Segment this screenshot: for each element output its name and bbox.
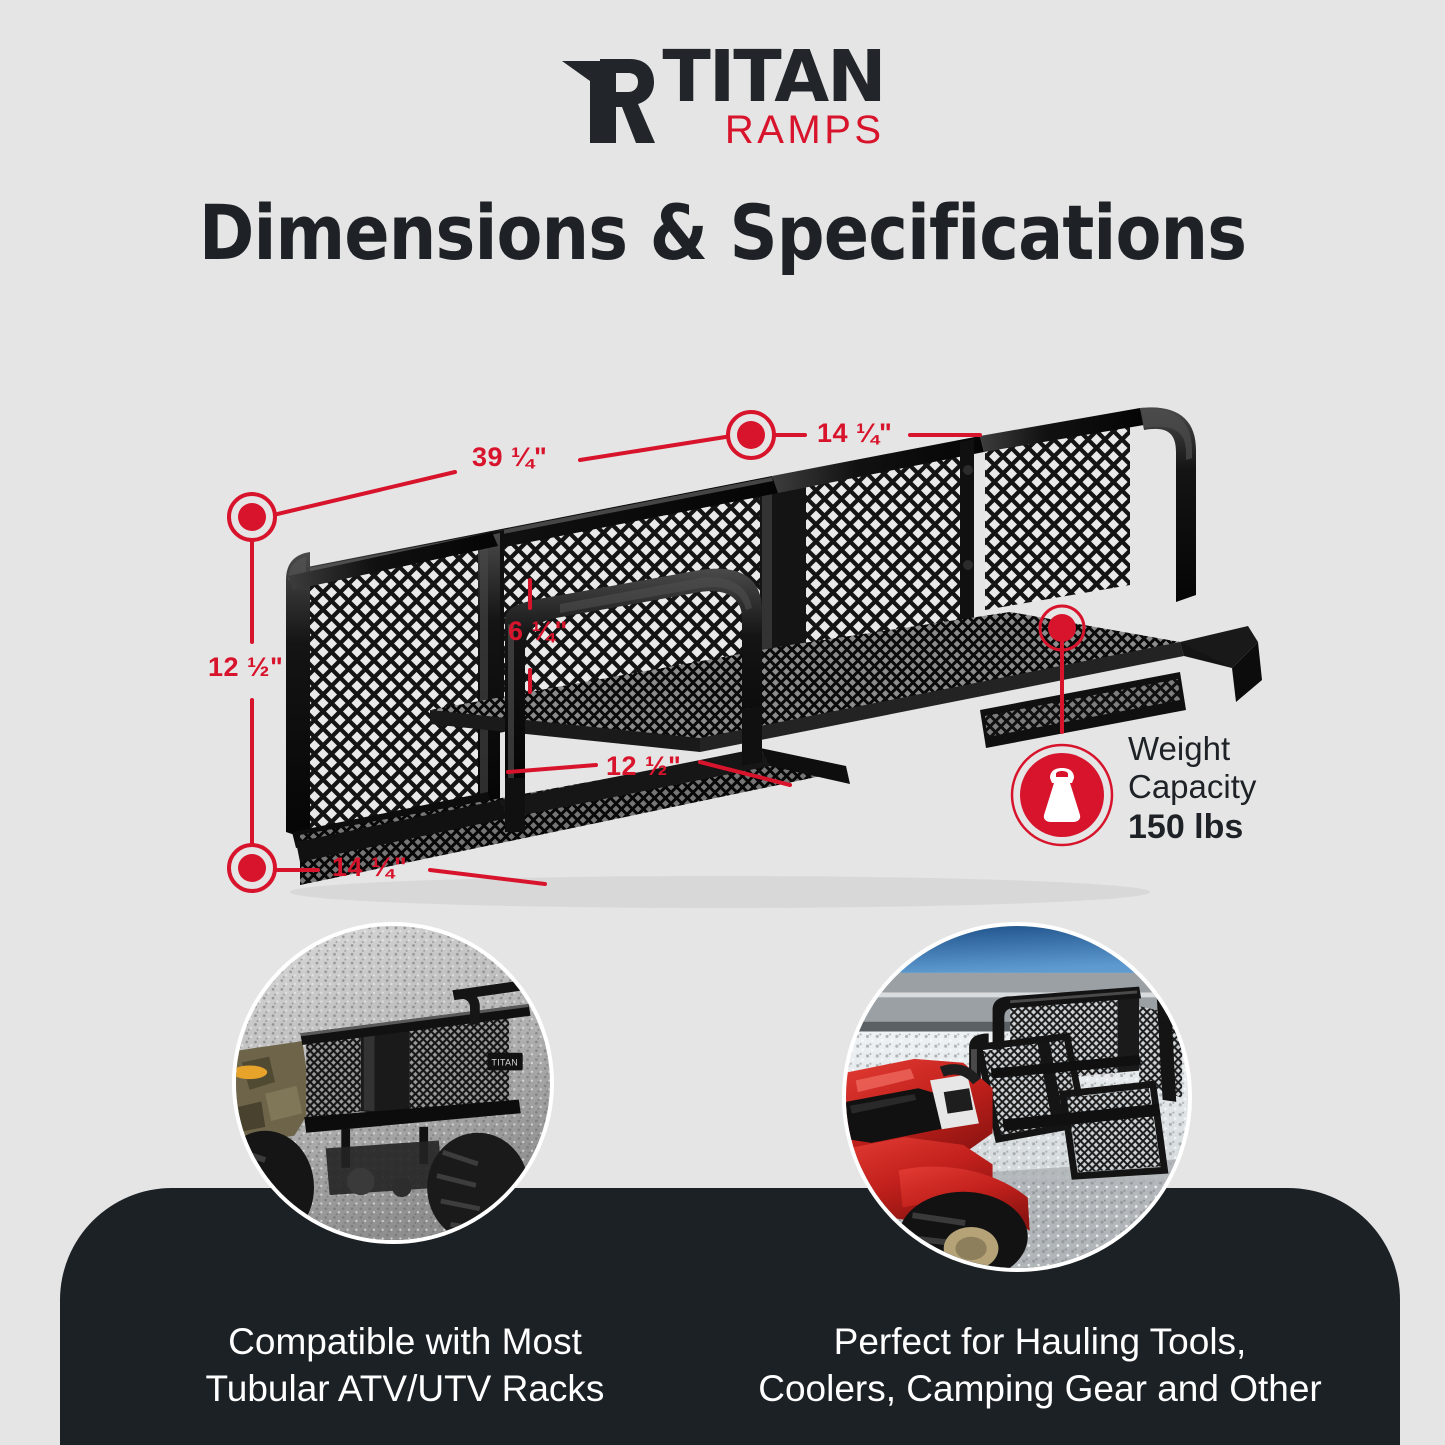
page-title: Dimensions & Specifications [87, 188, 1359, 277]
feature-caption-hauling: Perfect for Hauling Tools, Coolers, Camp… [720, 1318, 1360, 1413]
caption-line-2: Coolers, Camping Gear and Other [758, 1368, 1322, 1409]
dimension-marker-left-top [229, 494, 275, 540]
measurement-interior-height: 6 ¼" [508, 616, 568, 647]
dimension-marker-top [728, 412, 774, 458]
measurement-overall-height: 12 ½" [208, 652, 283, 683]
weight-label-line2: Capacity [1128, 768, 1348, 806]
titan-r-mark-icon [560, 55, 656, 145]
weight-capacity-text: Weight Capacity 150 lbs [1128, 730, 1348, 848]
brand-wordmark: TITAN RAMPS [662, 48, 884, 150]
measurement-base-depth: 14 ¼" [332, 852, 407, 883]
measurement-interior-width: 12 ½" [606, 751, 681, 782]
caption-line-1: Perfect for Hauling Tools, [834, 1321, 1247, 1362]
feature-caption-compatibility: Compatible with Most Tubular ATV/UTV Rac… [120, 1318, 690, 1413]
infographic-root: TITAN RAMPS Dimensions & Specifications [0, 0, 1445, 1445]
brand-name-primary: TITAN [662, 48, 884, 106]
red-atv-with-cargo-rack-photo [842, 922, 1192, 1272]
weight-kettlebell-icon [1010, 743, 1114, 847]
weight-value: 150 lbs [1128, 807, 1348, 848]
measurement-length: 39 ¼" [472, 442, 547, 473]
weight-capacity-badge: Weight Capacity 150 lbs [1010, 735, 1350, 865]
camo-atv-with-cargo-basket-photo: TITAN [232, 922, 554, 1244]
svg-text:TITAN: TITAN [491, 1057, 518, 1067]
dimension-marker-left-bottom [229, 845, 275, 891]
measurement-top-depth: 14 ¼" [817, 418, 892, 449]
caption-line-1: Compatible with Most [228, 1321, 582, 1362]
brand-logo: TITAN RAMPS [0, 42, 1445, 157]
caption-line-2: Tubular ATV/UTV Racks [206, 1368, 605, 1409]
weight-label-line1: Weight [1128, 730, 1348, 768]
